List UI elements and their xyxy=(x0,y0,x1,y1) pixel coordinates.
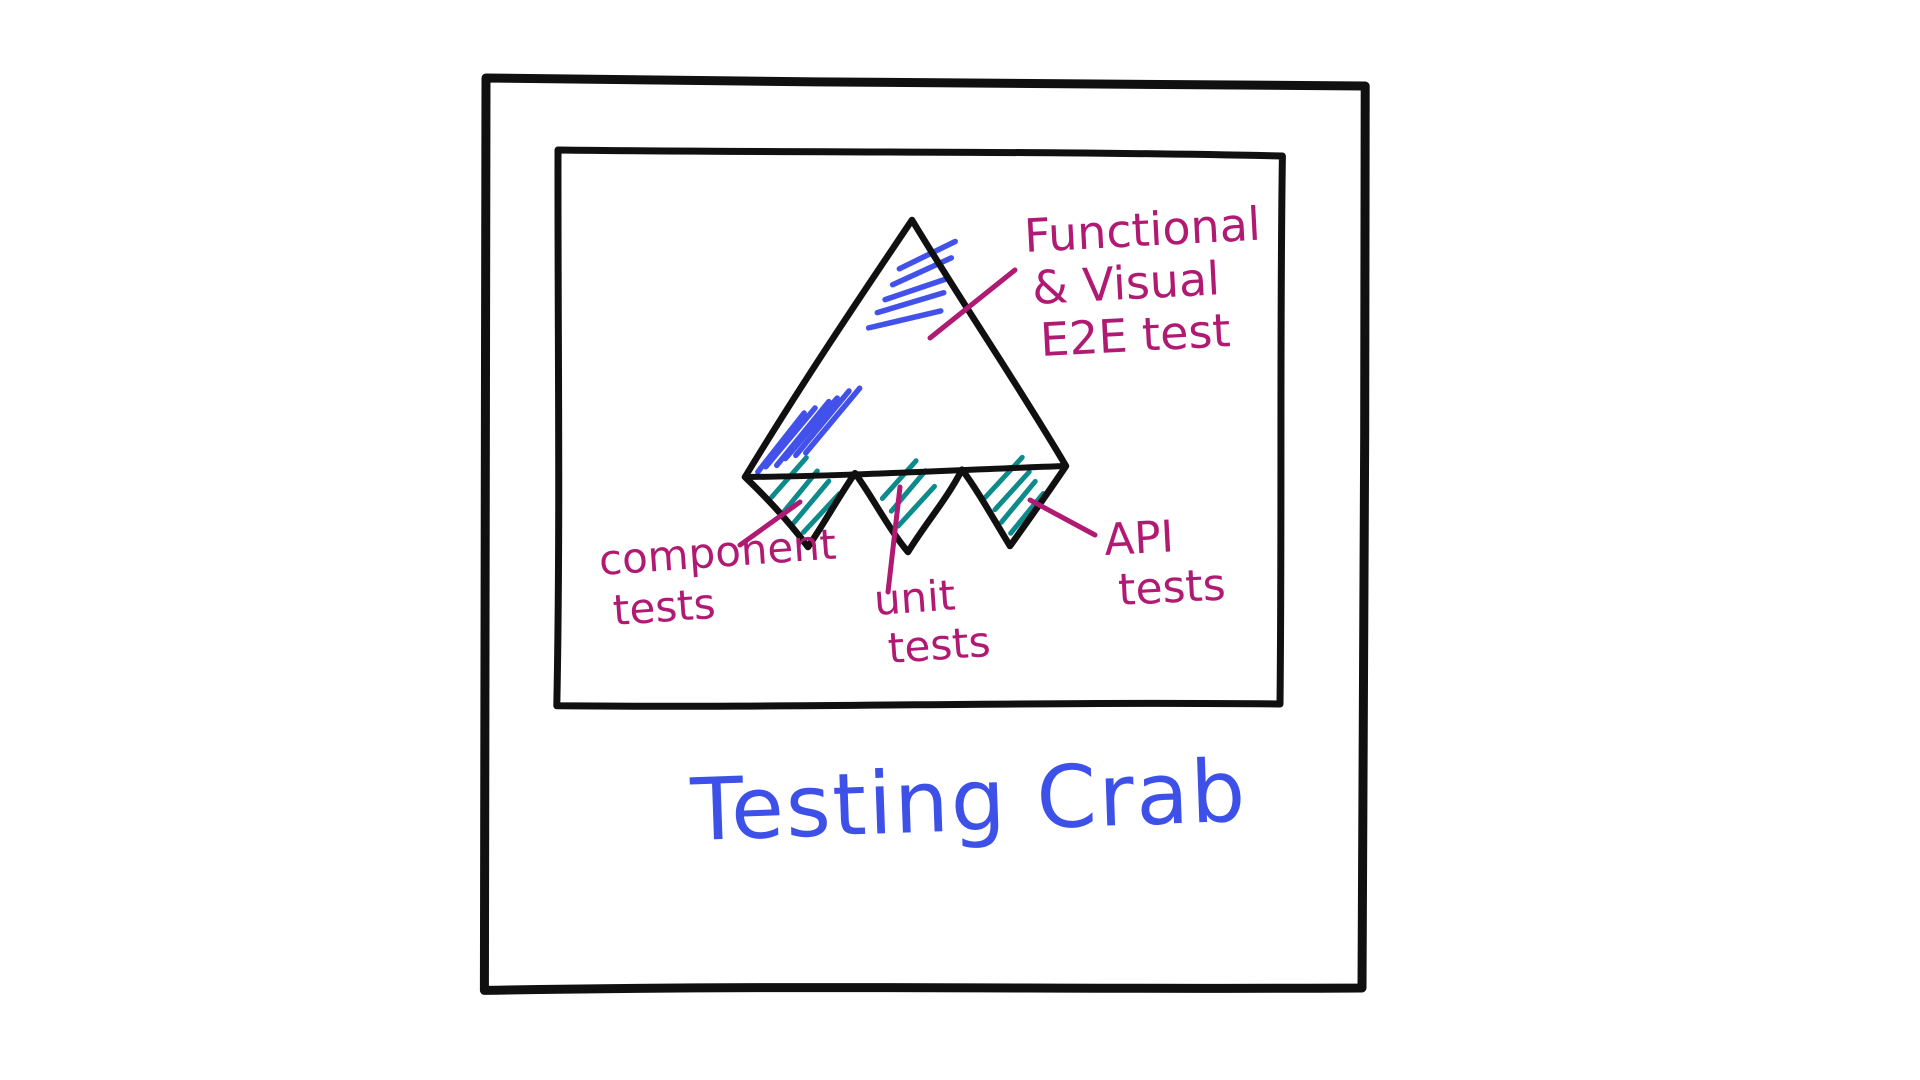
annotation-e2e-line-3: E2E test xyxy=(1039,303,1232,367)
annotation-unit-line-2: tests xyxy=(886,617,992,673)
annotation-component-line-2: tests xyxy=(611,579,717,635)
canvas-background xyxy=(0,0,1920,1080)
annotation-api-line-2: tests xyxy=(1117,559,1227,616)
annotation-unit-line-1: unit xyxy=(872,570,957,625)
sketch-title: Testing Crab xyxy=(688,742,1249,861)
annotation-api-line-1: API xyxy=(1103,511,1175,566)
sketch-canvas: Functional & Visual E2E test component t… xyxy=(0,0,1920,1080)
